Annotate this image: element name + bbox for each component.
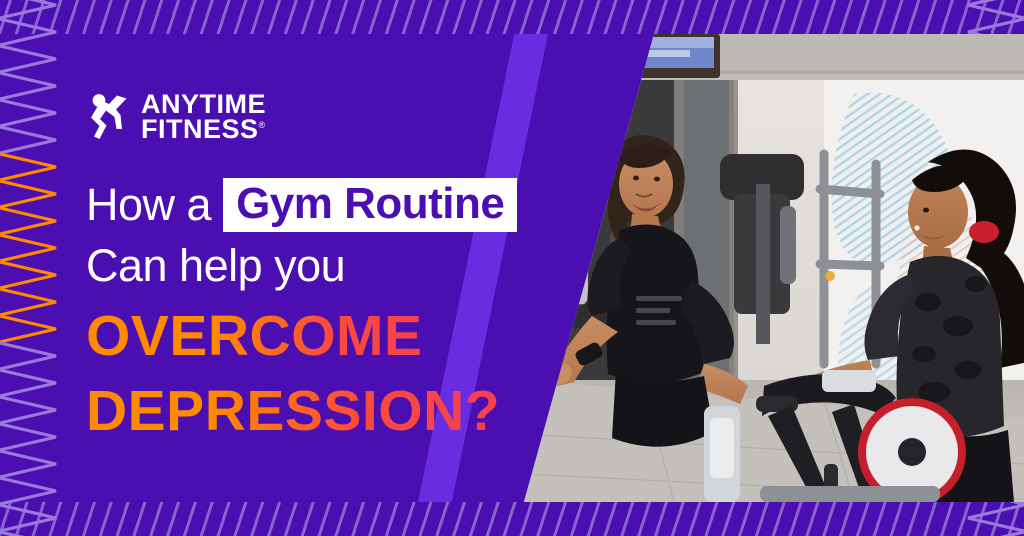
chevron-orange (0, 262, 62, 288)
emphasis-line-2: DEPRESSION? (86, 381, 500, 442)
chevron-orange (0, 154, 62, 180)
brand-logo[interactable]: ANYTIME FITNESS® (86, 92, 266, 142)
chevron-light (962, 0, 1024, 18)
chevron-light (0, 127, 62, 153)
top-stripe-band (0, 0, 1024, 34)
chevron-light (962, 505, 1024, 531)
headline-line-2: Can help you (86, 240, 606, 292)
headline-prefix: How a (86, 179, 223, 231)
chevron-orange (0, 181, 62, 207)
chevron-light (0, 451, 62, 477)
chevron-light (0, 532, 62, 536)
bottom-stripe-band (0, 502, 1024, 536)
brand-line-2: FITNESS® (141, 117, 266, 142)
promo-banner: ANYTIME FITNESS® How a Gym Routine Can h… (0, 0, 1024, 536)
chevron-light (0, 19, 62, 45)
chevron-light (0, 343, 62, 369)
emphasis-line-1: OVERCOME (86, 306, 423, 367)
chevron-orange (0, 235, 62, 261)
chevron-light (0, 100, 62, 126)
chevron-light (0, 73, 62, 99)
headline-block: How a Gym Routine Can help you OVERCOME … (86, 176, 606, 442)
chevron-light (0, 478, 62, 504)
chevron-orange (0, 316, 62, 342)
chevron-light (962, 532, 1024, 536)
chevron-orange (0, 289, 62, 315)
chevron-light (0, 370, 62, 396)
chevron-light (0, 397, 62, 423)
headline-highlight: Gym Routine (223, 178, 517, 233)
chevron-light (0, 505, 62, 531)
chevron-orange (0, 208, 62, 234)
chevron-light (0, 424, 62, 450)
chevron-light (0, 46, 62, 72)
registered-mark: ® (259, 120, 266, 130)
left-chevron-column (0, 0, 62, 536)
running-man-icon (86, 92, 132, 142)
brand-wordmark: ANYTIME FITNESS® (141, 92, 266, 142)
headline-line-1: How a Gym Routine (86, 176, 606, 234)
chevron-light (0, 0, 62, 18)
